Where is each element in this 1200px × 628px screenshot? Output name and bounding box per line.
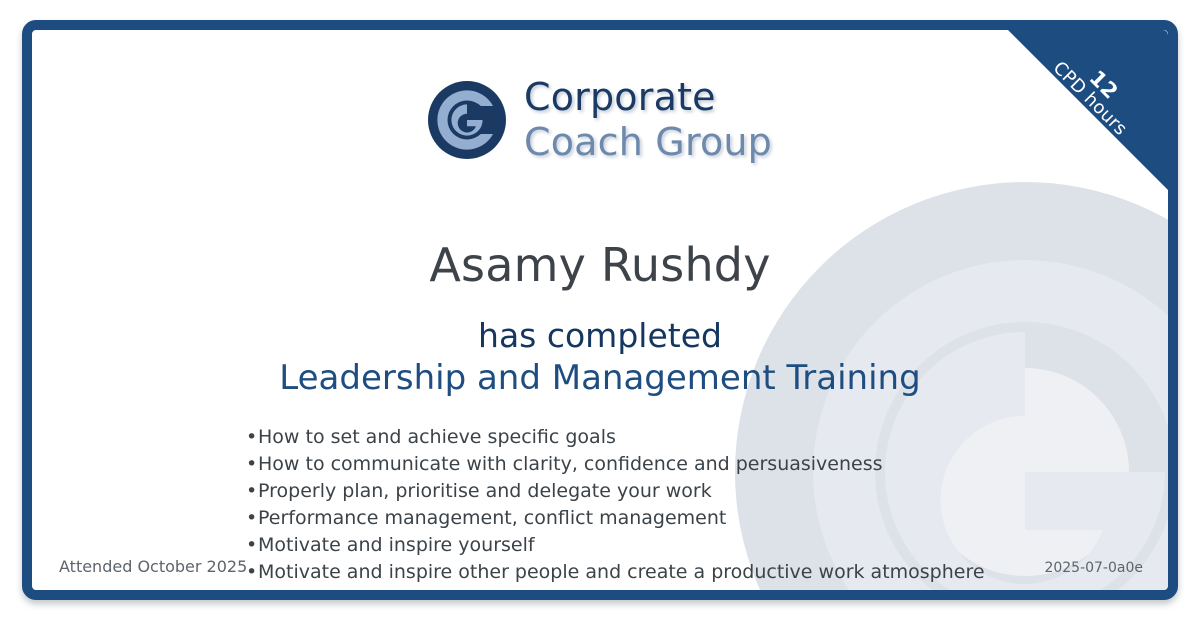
corporate-coach-group-logo-icon [428, 81, 506, 159]
brand-logo-wordmark: Corporate Coach Group [524, 78, 772, 161]
bullet-icon: • [246, 424, 258, 451]
bullet-icon: • [246, 532, 258, 559]
list-item-label: How to communicate with clarity, confide… [258, 453, 883, 475]
list-item: •How to communicate with clarity, confid… [246, 451, 985, 478]
list-item: •Properly plan, prioritise and delegate … [246, 478, 985, 505]
bullet-icon: • [246, 478, 258, 505]
course-title: Leadership and Management Training [32, 358, 1168, 398]
bullet-icon: • [246, 559, 258, 586]
certificate-page: 12 CPD hours Corporate Coach Group [0, 0, 1200, 628]
completion-label: has completed [32, 316, 1168, 355]
certificate-card: 12 CPD hours Corporate Coach Group [22, 20, 1178, 600]
brand-name-line-1: Corporate [524, 78, 772, 123]
certificate-card-inner: 12 CPD hours Corporate Coach Group [32, 30, 1168, 590]
list-item-label: Performance management, conflict managem… [258, 507, 726, 529]
list-item-label: Motivate and inspire yourself [258, 534, 535, 556]
bullet-icon: • [246, 451, 258, 478]
list-item: •How to set and achieve specific goals [246, 424, 985, 451]
learning-outcomes-list: •How to set and achieve specific goals •… [246, 424, 985, 586]
bullet-icon: • [246, 505, 258, 532]
list-item: •Motivate and inspire other people and c… [246, 559, 985, 586]
list-item-label: Motivate and inspire other people and cr… [258, 561, 985, 583]
brand-logo: Corporate Coach Group [32, 78, 1168, 161]
list-item-label: Properly plan, prioritise and delegate y… [258, 480, 712, 502]
attended-date: Attended October 2025 [59, 557, 247, 576]
brand-name-line-2: Coach Group [524, 123, 772, 161]
recipient-name: Asamy Rushdy [32, 238, 1168, 292]
list-item: •Motivate and inspire yourself [246, 532, 985, 559]
list-item-label: How to set and achieve specific goals [258, 426, 616, 448]
certificate-reference-code: 2025-07-0a0e [1044, 560, 1143, 576]
list-item: •Performance management, conflict manage… [246, 505, 985, 532]
